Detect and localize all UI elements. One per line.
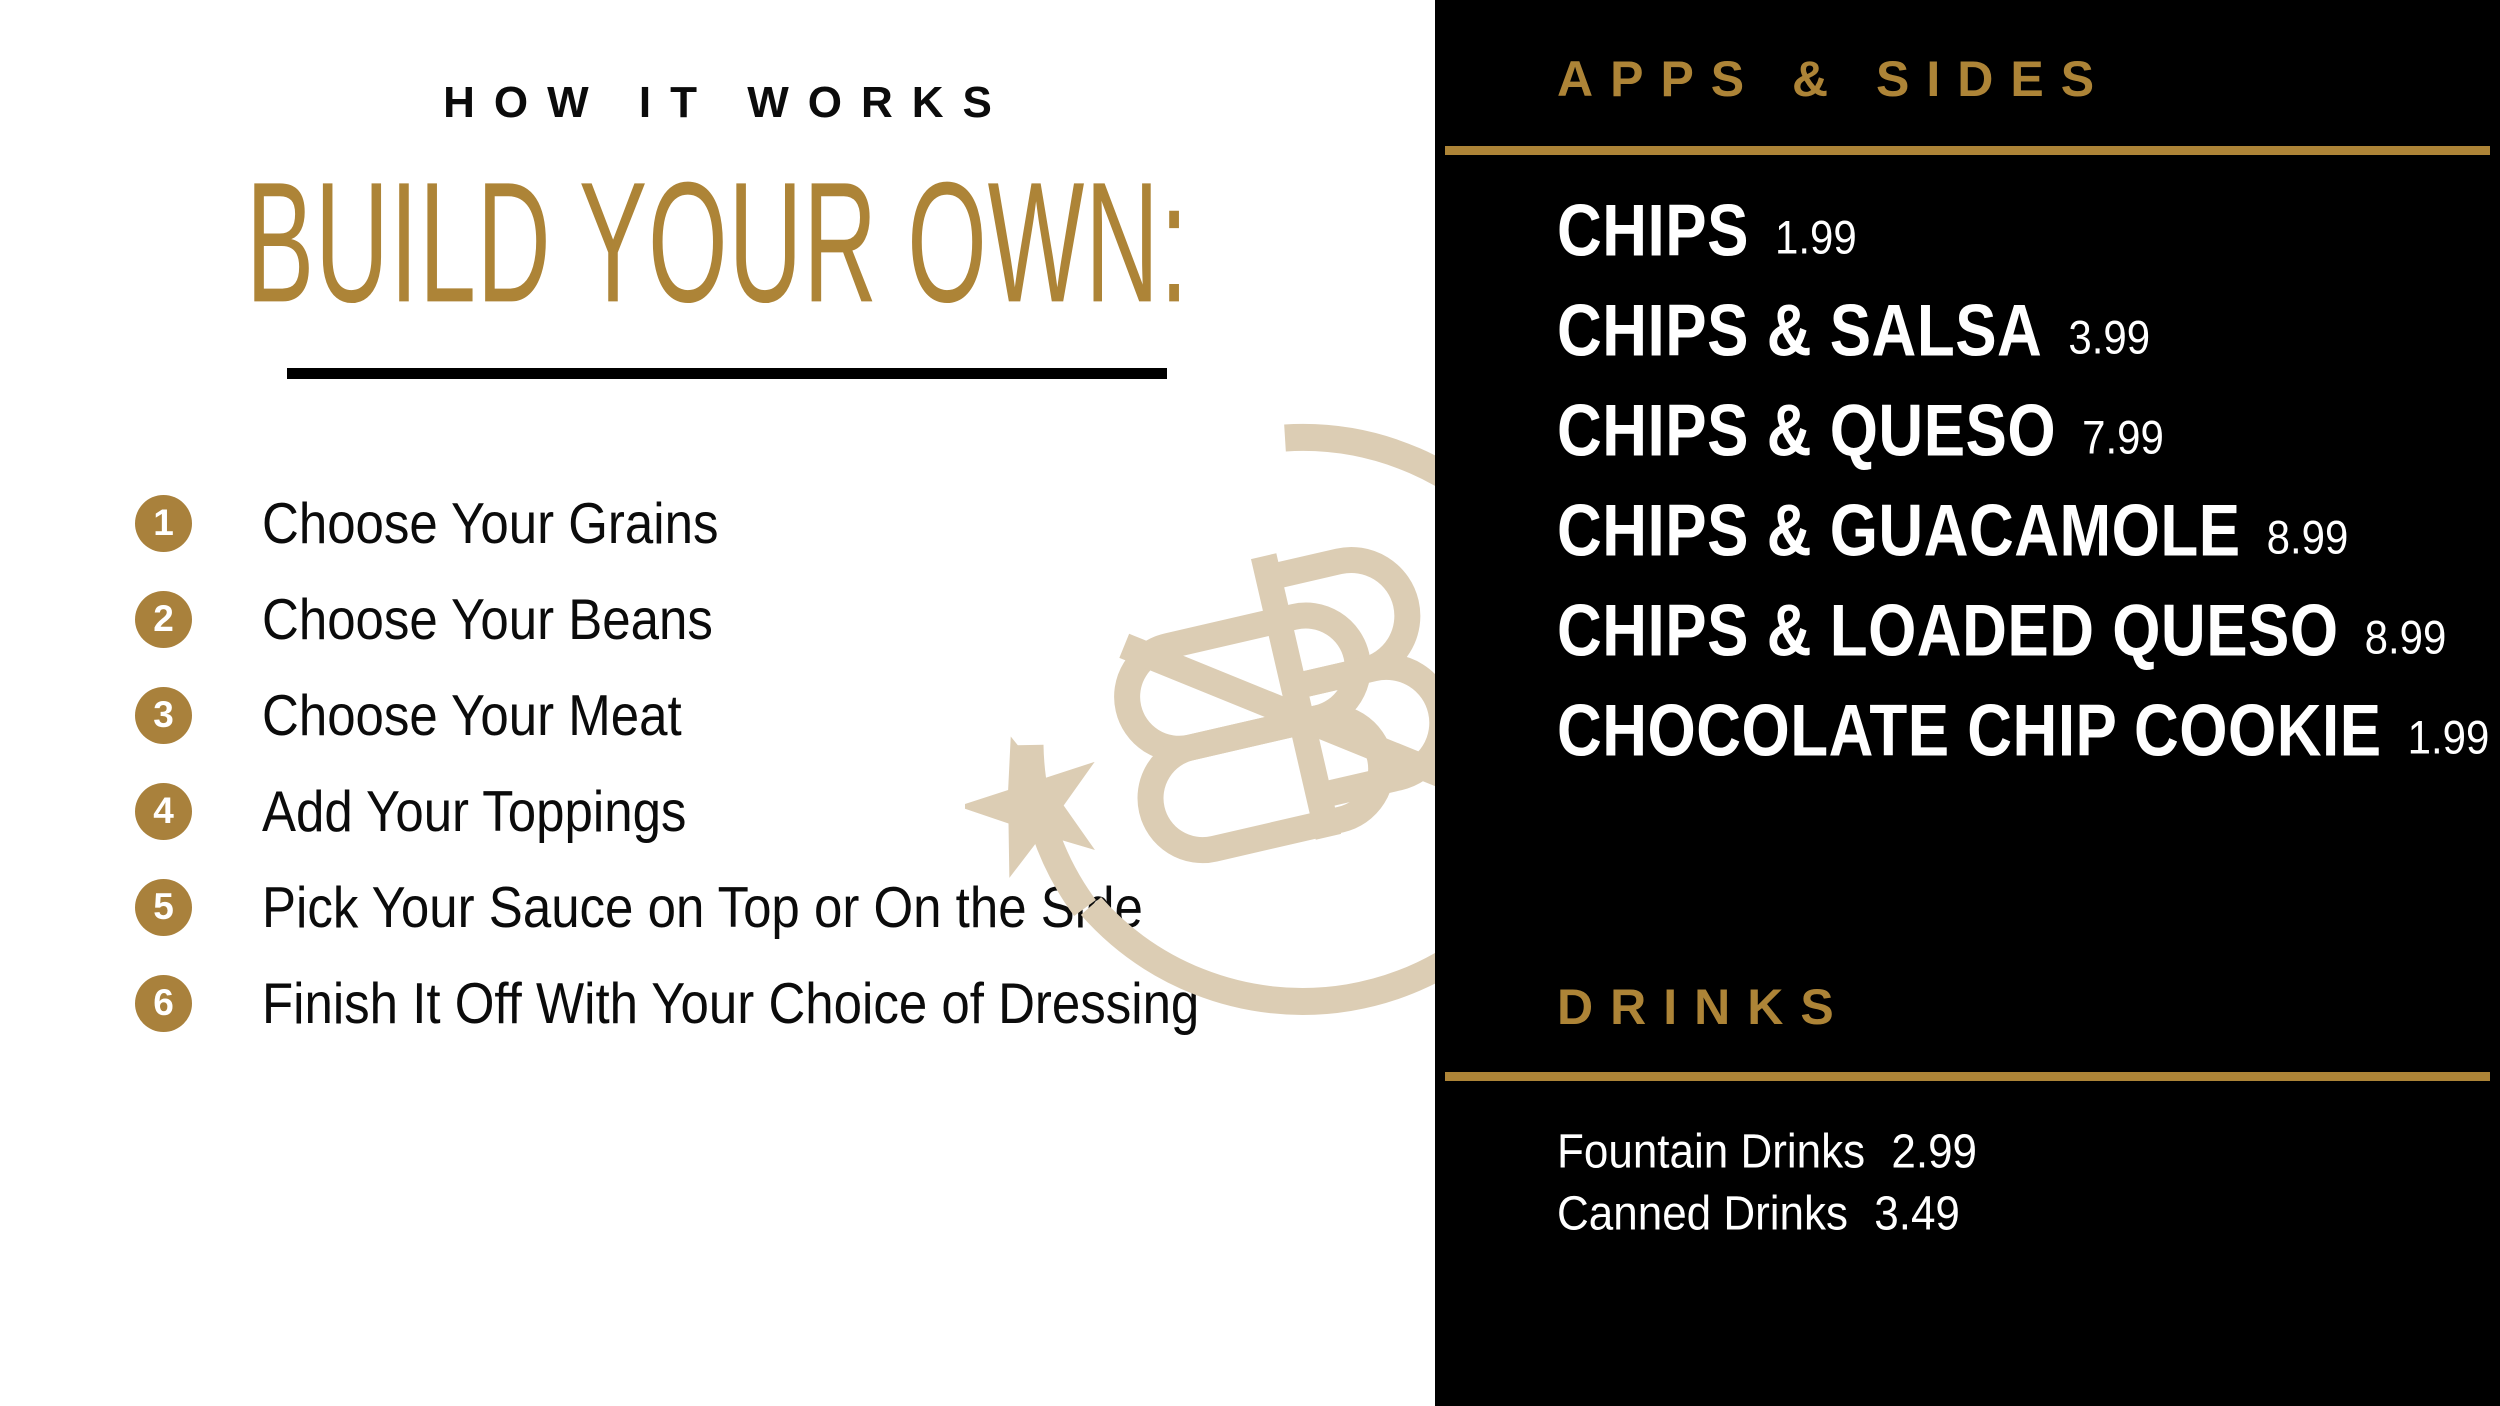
list-item: 3 Choose Your Meat <box>135 667 1425 763</box>
drink-item-name: Fountain Drinks <box>1557 1125 1865 1179</box>
drink-item-row: Canned Drinks 3.49 <box>1557 1180 2457 1248</box>
list-item: 4 Add Your Toppings <box>135 763 1425 859</box>
menu-item-name: CHIPS & GUACAMOLE <box>1557 490 2241 574</box>
apps-and-sides-heading: APPS & SIDES <box>1557 50 2111 108</box>
step-label: Add Your Toppings <box>262 778 686 844</box>
apps-section-divider <box>1445 146 2490 155</box>
list-item: 6 Finish It Off With Your Choice of Dres… <box>135 955 1425 1051</box>
step-number-badge: 3 <box>135 687 192 744</box>
menu-item-row: CHIPS & QUESO 7.99 <box>1557 396 2487 496</box>
menu-item-price: 8.99 <box>2267 511 2349 565</box>
menu-item-name: CHIPS & SALSA <box>1557 290 2042 374</box>
menu-item-row: CHIPS & SALSA 3.99 <box>1557 296 2487 396</box>
list-item: 5 Pick Your Sauce on Top or On the Side <box>135 859 1425 955</box>
drink-item-price: 2.99 <box>1891 1125 1977 1179</box>
menu-item-price: 1.99 <box>2408 711 2490 765</box>
menu-item-name: CHOCOLATE CHIP COOKIE <box>1557 690 2382 774</box>
step-number-badge: 4 <box>135 783 192 840</box>
step-number-badge: 1 <box>135 495 192 552</box>
step-label: Choose Your Grains <box>262 490 718 556</box>
menu-panel: APPS & SIDES CHIPS 1.99 CHIPS & SALSA 3.… <box>1435 0 2500 1406</box>
steps-list: 1 Choose Your Grains 2 Choose Your Beans… <box>135 475 1425 1051</box>
apps-and-sides-list: CHIPS 1.99 CHIPS & SALSA 3.99 CHIPS & QU… <box>1557 196 2487 796</box>
list-item: 1 Choose Your Grains <box>135 475 1425 571</box>
drink-item-price: 3.49 <box>1874 1187 1960 1241</box>
menu-board: HOW IT WORKS BUILD YOUR OWN: 1 Choose Yo… <box>0 0 2500 1406</box>
heading-divider <box>287 368 1167 379</box>
step-label: Choose Your Beans <box>262 586 713 652</box>
eyebrow-label: HOW IT WORKS <box>0 78 1435 128</box>
drink-item-row: Fountain Drinks 2.99 <box>1557 1118 2457 1186</box>
list-item: 2 Choose Your Beans <box>135 571 1425 667</box>
page-title: BUILD YOUR OWN: <box>144 158 1292 330</box>
menu-item-name: CHIPS <box>1557 190 1749 274</box>
step-number-badge: 5 <box>135 879 192 936</box>
menu-item-price: 3.99 <box>2068 311 2150 365</box>
drinks-list: Fountain Drinks 2.99 Canned Drinks 3.49 <box>1557 1118 2457 1242</box>
how-it-works-panel: HOW IT WORKS BUILD YOUR OWN: 1 Choose Yo… <box>0 0 1435 1406</box>
step-label: Choose Your Meat <box>262 682 682 748</box>
drinks-heading: DRINKS <box>1557 978 1851 1036</box>
step-label: Pick Your Sauce on Top or On the Side <box>262 874 1143 940</box>
menu-item-price: 1.99 <box>1775 211 1857 265</box>
menu-item-row: CHIPS 1.99 <box>1557 196 2487 296</box>
drink-item-name: Canned Drinks <box>1557 1187 1848 1241</box>
menu-item-price: 7.99 <box>2082 411 2164 465</box>
drinks-section-divider <box>1445 1072 2490 1081</box>
menu-item-row: CHIPS & GUACAMOLE 8.99 <box>1557 496 2487 596</box>
menu-item-row: CHIPS & LOADED QUESO 8.99 <box>1557 596 2487 696</box>
menu-item-name: CHIPS & QUESO <box>1557 390 2056 474</box>
step-label: Finish It Off With Your Choice of Dressi… <box>262 970 1199 1036</box>
step-number-badge: 2 <box>135 591 192 648</box>
step-number-badge: 6 <box>135 975 192 1032</box>
menu-item-price: 8.99 <box>2365 611 2447 665</box>
menu-item-name: CHIPS & LOADED QUESO <box>1557 590 2339 674</box>
menu-item-row: CHOCOLATE CHIP COOKIE 1.99 <box>1557 696 2487 796</box>
